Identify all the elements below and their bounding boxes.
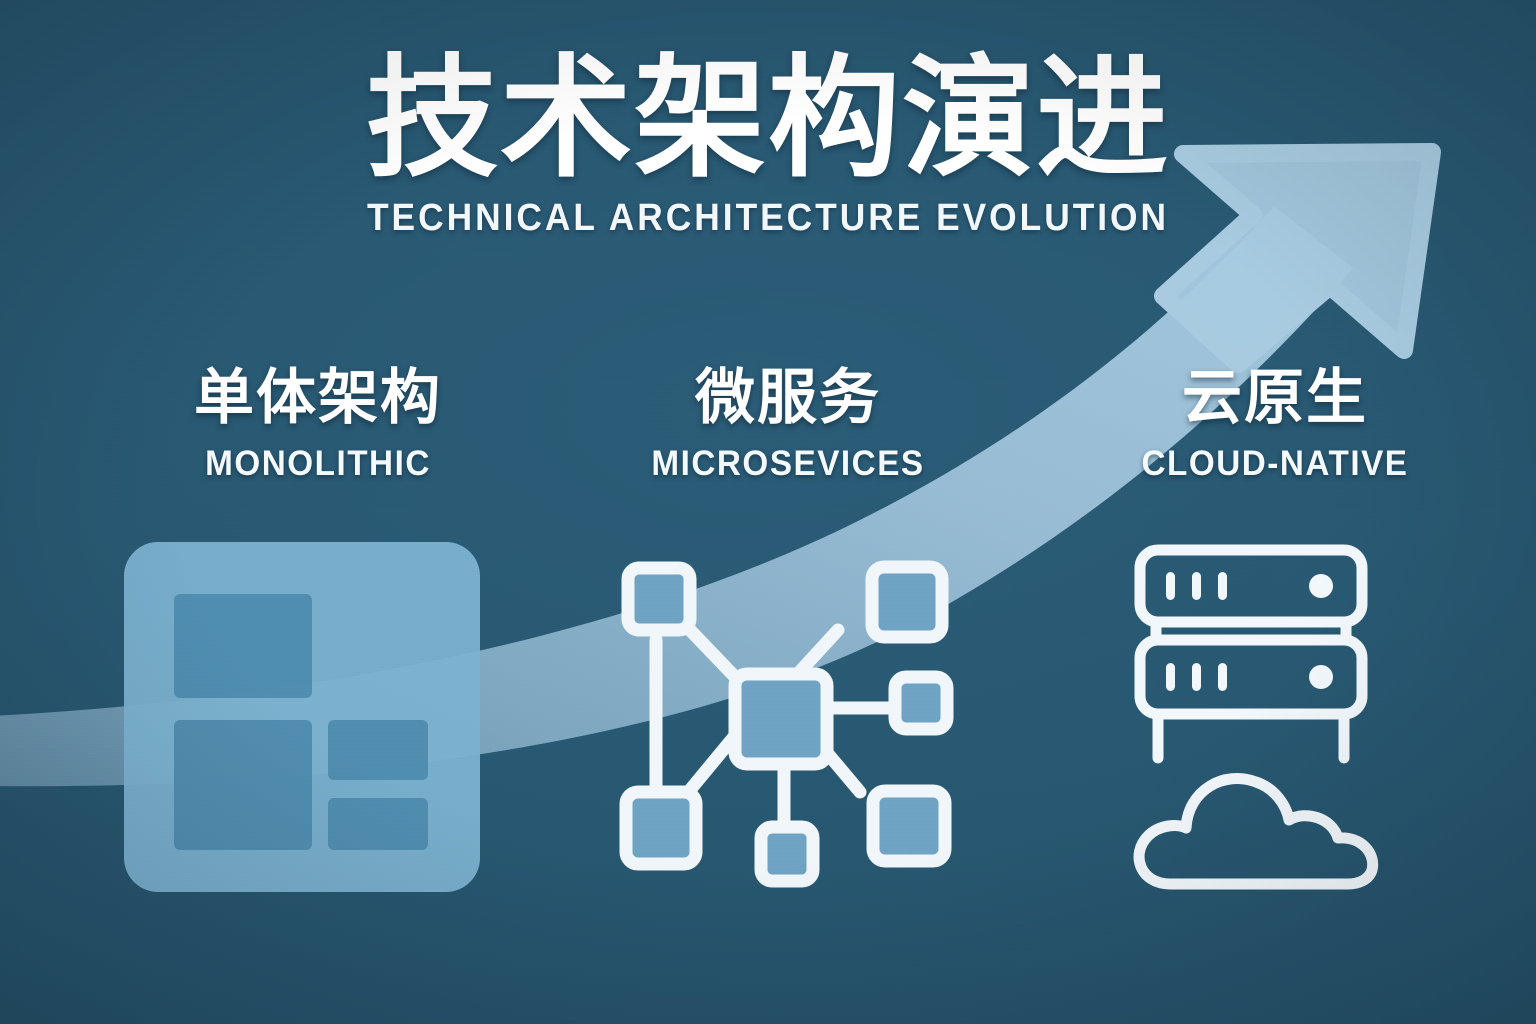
stage-label-microsevices: 微服务 MICROSEVICES — [620, 368, 956, 484]
stage-label-microsevices-en: MICROSEVICES — [628, 444, 947, 484]
stage-label-microsevices-cn: 微服务 — [620, 368, 956, 428]
title-block: 技术架构演进 TECHNICAL ARCHITECTURE EVOLUTION — [0, 48, 1536, 240]
stage-label-monolithic-cn: 单体架构 — [135, 368, 501, 428]
microservices-network-icon — [598, 540, 978, 900]
stage-label-cloud-native-en: CLOUD-NATIVE — [1114, 444, 1437, 484]
poster-canvas: 技术架构演进 TECHNICAL ARCHITECTURE EVOLUTION … — [0, 0, 1536, 1024]
page-subtitle: TECHNICAL ARCHITECTURE EVOLUTION — [54, 197, 1482, 240]
page-title: 技术架构演进 — [0, 48, 1536, 191]
monolith-block-icon — [118, 536, 486, 898]
server-stack-cloud-icon — [1122, 536, 1432, 906]
stage-label-cloud-native: 云原生 CLOUD-NATIVE — [1105, 368, 1445, 484]
stage-label-monolithic: 单体架构 MONOLITHIC — [135, 368, 501, 484]
stage-label-cloud-native-cn: 云原生 — [1105, 368, 1445, 428]
stage-label-monolithic-en: MONOLITHIC — [144, 444, 492, 484]
